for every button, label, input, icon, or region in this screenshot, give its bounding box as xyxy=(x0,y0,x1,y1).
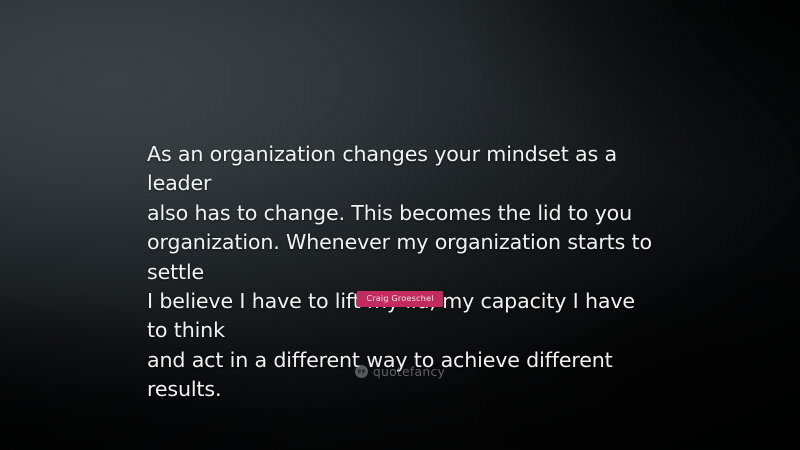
watermark-label: quotefancy xyxy=(373,365,445,378)
author-badge[interactable]: Craig Groeschel xyxy=(357,291,442,307)
poster-content: As an organization changes your mindset … xyxy=(0,0,800,450)
quote-poster: As an organization changes your mindset … xyxy=(0,0,800,450)
quote-mark-icon xyxy=(355,365,368,378)
watermark[interactable]: quotefancy xyxy=(0,365,800,378)
author-row: Craig Groeschel xyxy=(0,291,800,307)
